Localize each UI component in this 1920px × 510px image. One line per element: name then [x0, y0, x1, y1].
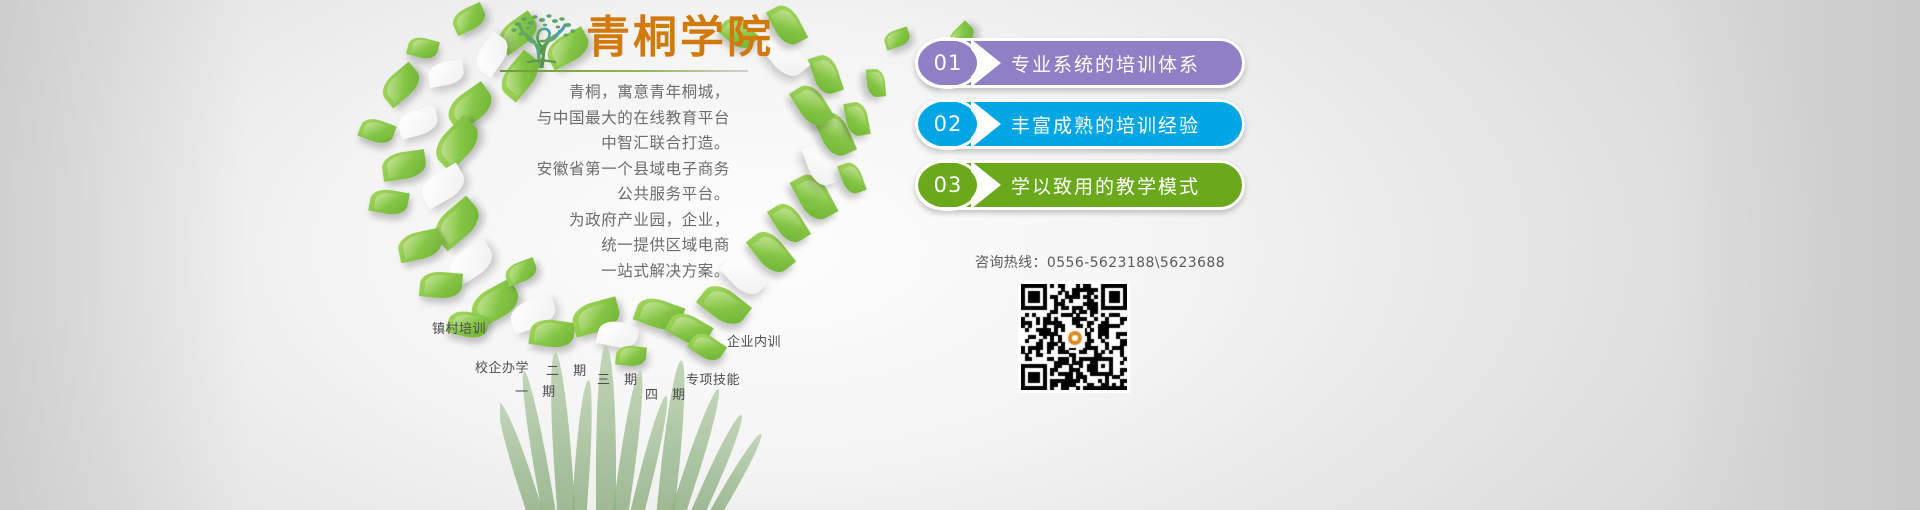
description-line: 公共服务平台。 [430, 182, 730, 208]
grass-blade [571, 380, 596, 510]
leaf-shape [837, 160, 867, 197]
category-label: 镇村培训 [432, 318, 486, 337]
description-line: 统一提供区域电商 [430, 233, 730, 259]
leaf-shape [843, 100, 871, 137]
badge-number: 01 [919, 41, 977, 85]
category-label: 专项技能 [686, 369, 740, 388]
feature-badge-list: 01专业系统的培训体系02丰富成熟的培训经验03学以致用的教学模式 [915, 38, 1245, 221]
leaf-shape [357, 115, 396, 147]
badge-number: 02 [919, 102, 977, 146]
leaf-shape [449, 2, 489, 36]
logo-divider [500, 70, 748, 72]
category-label: 四 期 [645, 384, 690, 403]
leaf-shape [380, 149, 427, 182]
leaf-shape [866, 68, 886, 97]
feature-badge-02[interactable]: 02丰富成熟的培训经验 [915, 99, 1245, 149]
description-line: 安徽省第一个县域电子商务 [430, 157, 730, 183]
description-line: 青桐，寓意青年桐城， [430, 80, 730, 106]
leaf-shape [406, 34, 440, 61]
badge-number: 03 [919, 163, 977, 207]
banner-stage: 青桐学院 青桐，寓意青年桐城，与中国最大的在线教育平台中智汇联合打造。安徽省第一… [0, 0, 1920, 510]
leaf-shape [377, 62, 426, 109]
category-label: 二 期 [546, 360, 591, 379]
category-label: 校企办学 [475, 357, 529, 376]
badge-label: 学以致用的教学模式 [1011, 160, 1231, 210]
description-line: 为政府产业园，企业， [430, 208, 730, 234]
tree-icon [500, 10, 584, 68]
brand-logo[interactable]: 青桐学院 [500, 8, 760, 74]
feature-badge-01[interactable]: 01专业系统的培训体系 [915, 38, 1245, 88]
leaf-shape [368, 187, 410, 217]
description-line: 中智汇联合打造。 [430, 131, 730, 157]
brand-name: 青桐学院 [586, 14, 774, 62]
category-label: 三 期 [597, 369, 642, 388]
badge-label: 丰富成熟的培训经验 [1011, 99, 1231, 149]
category-label: 企业内训 [727, 331, 781, 350]
description-line: 一站式解决方案。 [430, 259, 730, 285]
description-line: 与中国最大的在线教育平台 [430, 106, 730, 132]
hotline-text: 咨询热线：0556-5623188\5623688 [950, 252, 1250, 272]
badge-label: 专业系统的培训体系 [1011, 38, 1231, 88]
leaf-shape [882, 26, 912, 50]
feature-badge-03[interactable]: 03学以致用的教学模式 [915, 160, 1245, 210]
qr-code[interactable] [1018, 281, 1130, 393]
category-label: 一 期 [515, 381, 560, 400]
brand-description: 青桐，寓意青年桐城，与中国最大的在线教育平台中智汇联合打造。安徽省第一个县域电子… [430, 80, 730, 284]
grass-decoration [500, 330, 780, 510]
